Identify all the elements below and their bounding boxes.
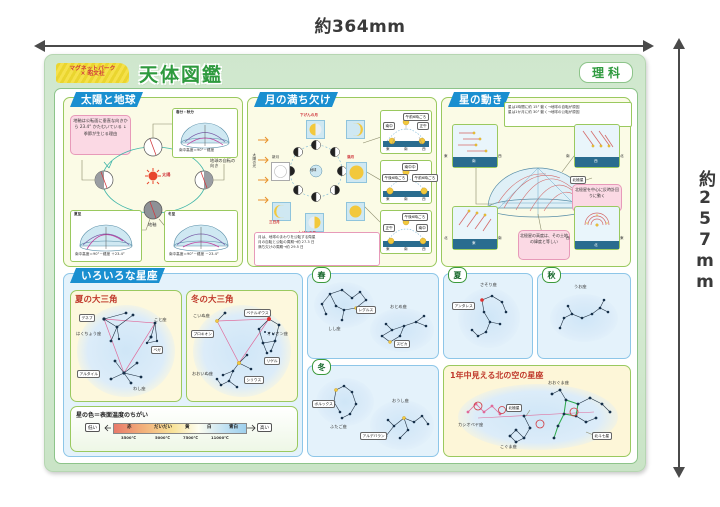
spring-constellation-diagram — [308, 274, 438, 358]
sky-east-dir-n: 北 — [444, 236, 448, 241]
moon-sky-2-dir-e: 東 — [386, 197, 390, 202]
star-label-sirius: シリウス — [244, 376, 264, 384]
moon-label-waning: 下げんの月 — [300, 113, 318, 118]
panel-moon-phases: 月の満ち欠け 太陽の光 — [247, 97, 437, 267]
moon-sky-1-dir-e: 東 — [386, 147, 390, 152]
group-label-scorpius: さそり座 — [480, 282, 497, 288]
inset-equinox: 春分・秋分 南中高度＝90°－緯度 — [172, 108, 238, 158]
panel-star-motion: 星の動き 星は1時間に約 15° 動く→地球の自転が原因 星は1か月に約 30°… — [441, 97, 631, 267]
moon-label-new: 新月 — [272, 155, 279, 160]
winter-season-diagram — [308, 366, 438, 456]
group-label-canis-minor: こいぬ座 — [193, 313, 210, 319]
moon-summary-box: 月は、地球のまわりを公転する衛星 月の自転と公転の周期→約 27.3 日 満ち欠… — [254, 232, 380, 266]
moon-sky-1-dir-s: 南 — [404, 147, 408, 152]
star-label-altair: アルタイル — [77, 370, 100, 378]
temp-tick-5000: 5000℃ — [155, 435, 170, 440]
star-label-pollux: ポルックス — [312, 400, 335, 408]
moon-label-crescent: 三日月 — [269, 220, 280, 225]
temp-color-orange: だいだい — [154, 424, 172, 430]
moon-tile-extra-1 — [346, 120, 365, 139]
moon-sky-3-dir-s: 南 — [404, 247, 408, 252]
group-label-pisces: うお座 — [574, 284, 587, 290]
poster-board: 太陽と地球 地軸は公転面に垂直な向きから 23.4° かたむいている ↓ 季節が… — [54, 88, 638, 464]
season-card-autumn: 秋 うお座 — [537, 273, 631, 359]
group-label-leo: しし座 — [328, 326, 341, 332]
north-sky-card: 1年中見える北の空の星座 — [443, 365, 631, 457]
sky-south-dir-w: 西 — [498, 154, 502, 159]
star-sky-view-south: 南 — [452, 124, 498, 168]
moon-sky-3-time-2: 午後6時ごろ — [402, 213, 428, 221]
temp-tick-3500: 3500℃ — [121, 435, 136, 440]
panel-constellations-title: いろいろな星座 — [70, 268, 165, 283]
star-sky-view-east: 東 — [452, 206, 498, 250]
sky-south-dir-e: 東 — [444, 154, 448, 159]
star-label-spica: スピカ — [394, 340, 410, 348]
panel-constellations: いろいろな星座 夏の大三角 — [63, 273, 303, 457]
poster: マグネットパーク × 昭文社 天体図鑑 理科 太陽と地球 地軸は公転面に垂直な向… — [44, 54, 646, 472]
moon-sky-1-time-2: 午前6時ごろ — [403, 113, 429, 121]
group-label-taurus: おうし座 — [392, 398, 409, 404]
moon-sky-2-dir-s: 南 — [404, 197, 408, 202]
moon-tile-new — [271, 162, 290, 181]
moon-summary-line-3: 満ち欠けの周期→約 29.5 日 — [258, 245, 376, 250]
summer-formula: 南中高度＝90°－緯度 ＋23.4° — [75, 252, 125, 257]
brand-line-2: × 昭文社 — [80, 72, 104, 78]
star-label-regulus: レグルス — [356, 306, 376, 314]
winter-triangle-diagram — [187, 291, 297, 401]
group-label-cassiopeia: カシオペヤ座 — [458, 422, 483, 428]
inset-summer-solstice: 夏至 南中高度＝90°－緯度 ＋23.4° — [70, 210, 142, 262]
summer-triangle-diagram — [71, 291, 181, 401]
moon-tile-extra-2 — [346, 202, 365, 221]
star-label-aldebaran: アルデバラン — [360, 432, 387, 440]
temp-gradient-bar — [113, 423, 247, 434]
sky-east-label: 東 — [472, 241, 476, 246]
polaris-label: 北極星 — [570, 176, 586, 184]
north-sky-label-polaris: 北極星 — [506, 404, 522, 412]
star-sky-view-west: 西 — [574, 124, 620, 168]
season-card-spring: 春 — [307, 273, 439, 359]
temp-color-bluewhite: 青白 — [229, 424, 238, 430]
moon-sky-3-dir-w: 西 — [422, 247, 426, 252]
moon-sky-2-time-1: 午後6時ごろ — [382, 174, 408, 182]
moon-sky-1-dir-w: 西 — [422, 147, 426, 152]
moon-tile-full — [346, 162, 367, 183]
moon-sky-2-time-2: 南中中 — [402, 163, 418, 171]
moon-sky-3-time-3: 南中 — [416, 224, 428, 232]
height-dimension-arrow — [678, 48, 680, 468]
star-color-temp-card: 星の色＝表面温度のちがい 低い 高い 赤 だいだい 黄 白 青白 3500℃ 5… — [70, 406, 298, 452]
star-label-procyon: プロキオン — [191, 330, 214, 338]
temp-color-yellow: 黄 — [185, 424, 190, 430]
group-label-orion: オリオン座 — [267, 331, 288, 337]
star-label-deneb: デネブ — [79, 314, 95, 322]
star-label-vega: ベガ — [151, 346, 163, 354]
temp-high-label: 高い — [257, 423, 272, 432]
panel-sun-earth: 太陽と地球 地軸は公転面に垂直な向きから 23.4° かたむいている ↓ 季節が… — [63, 97, 243, 267]
star-sky-view-north: 北 — [574, 206, 620, 250]
earth-rotation-label: 地球の自転の向き — [210, 158, 236, 169]
winter-formula: 南中高度＝90°－緯度 －23.4° — [169, 252, 219, 257]
equinox-formula: 南中高度＝90°－緯度 — [179, 148, 214, 153]
moon-sky-3-time-1: 正午 — [383, 224, 395, 232]
star-note-polaris-altitude: 北極星の高度は、その土地の緯度と等しい — [518, 230, 570, 260]
winter-triangle-card: 冬の大三角 — [186, 290, 298, 402]
temp-tick-7500: 7500℃ — [183, 435, 198, 440]
page-title: 天体図鑑 — [139, 60, 223, 87]
moon-sky-2-time-3: 午前6時ごろ — [412, 174, 438, 182]
season-card-summer: 夏 さそり座 アンタレス — [443, 273, 533, 359]
poster-header: マグネットパーク × 昭文社 天体図鑑 理科 — [45, 57, 645, 87]
group-label-virgo: おとめ座 — [390, 304, 407, 310]
sky-north-label: 北 — [594, 243, 598, 248]
sky-east-dir-s: 南 — [498, 236, 502, 241]
star-label-antares: アンタレス — [452, 302, 475, 310]
star-label-rigel: リゲル — [264, 357, 280, 365]
sky-west-dir-s: 南 — [566, 154, 570, 159]
group-label-cygnus: はくちょう座 — [76, 331, 101, 337]
moon-sky-inset-2: 午後6時ごろ 南中中 午前6時ごろ 東 南 西 — [380, 160, 432, 204]
group-label-gemini: ふたご座 — [330, 424, 347, 430]
height-dimension-label: 約257mm — [696, 170, 718, 293]
temp-tick-11000: 11000℃ — [211, 435, 229, 440]
group-label-ursa-minor: こぐま座 — [500, 444, 517, 450]
season-card-winter: 冬 — [307, 365, 439, 457]
moon-sky-1-time-3: 正午 — [417, 122, 429, 130]
group-label-aquila: わし座 — [133, 386, 146, 392]
earth-axis-label: 地軸 — [148, 222, 156, 228]
moon-label-full: 満月 — [347, 155, 354, 160]
north-sky-diagram — [444, 366, 630, 456]
sky-north-dir-e: 東 — [620, 236, 624, 241]
group-label-canis-major: おおいぬ座 — [192, 371, 213, 377]
width-dimension-label: 約364mm — [0, 12, 720, 37]
moon-sky-2-dir-w: 西 — [422, 197, 426, 202]
sky-west-dir-n: 北 — [620, 154, 624, 159]
temp-color-red: 赤 — [127, 424, 132, 430]
star-label-betelgeuse: ベテルギウス — [244, 309, 271, 317]
brand-badge: マグネットパーク × 昭文社 — [56, 63, 129, 83]
moon-tile-crescent — [272, 202, 291, 221]
moon-sky-inset-3: 正午 午後6時ごろ 南中 東 南 西 — [380, 210, 432, 254]
summer-triangle-card: 夏の大三角 — [70, 290, 182, 402]
width-dimension-arrow — [44, 45, 644, 47]
subject-badge: 理科 — [579, 62, 633, 83]
group-label-ursa-major: おおぐま座 — [548, 380, 569, 386]
moon-tile-waning — [306, 120, 325, 139]
moon-sky-inset-1: 南中 午前6時ごろ 正午 東 南 西 — [380, 110, 432, 154]
moon-sky-1-time-1: 南中 — [383, 122, 395, 130]
inset-winter-solstice: 冬至 南中高度＝90°－緯度 －23.4° — [164, 210, 238, 262]
sky-north-dir-w: 西 — [566, 236, 570, 241]
group-label-lyra: こと座 — [154, 317, 167, 323]
moon-sky-3-dir-e: 東 — [386, 247, 390, 252]
sky-south-label: 南 — [472, 159, 476, 164]
temp-color-white: 白 — [207, 424, 212, 430]
north-sky-label-big-dipper: 北斗七星 — [592, 432, 612, 440]
sun-label: 太陽 — [162, 172, 170, 178]
moon-label-earth: 地球 — [310, 168, 316, 172]
moon-tile-waxing — [305, 213, 324, 232]
sky-west-label: 西 — [594, 159, 598, 164]
